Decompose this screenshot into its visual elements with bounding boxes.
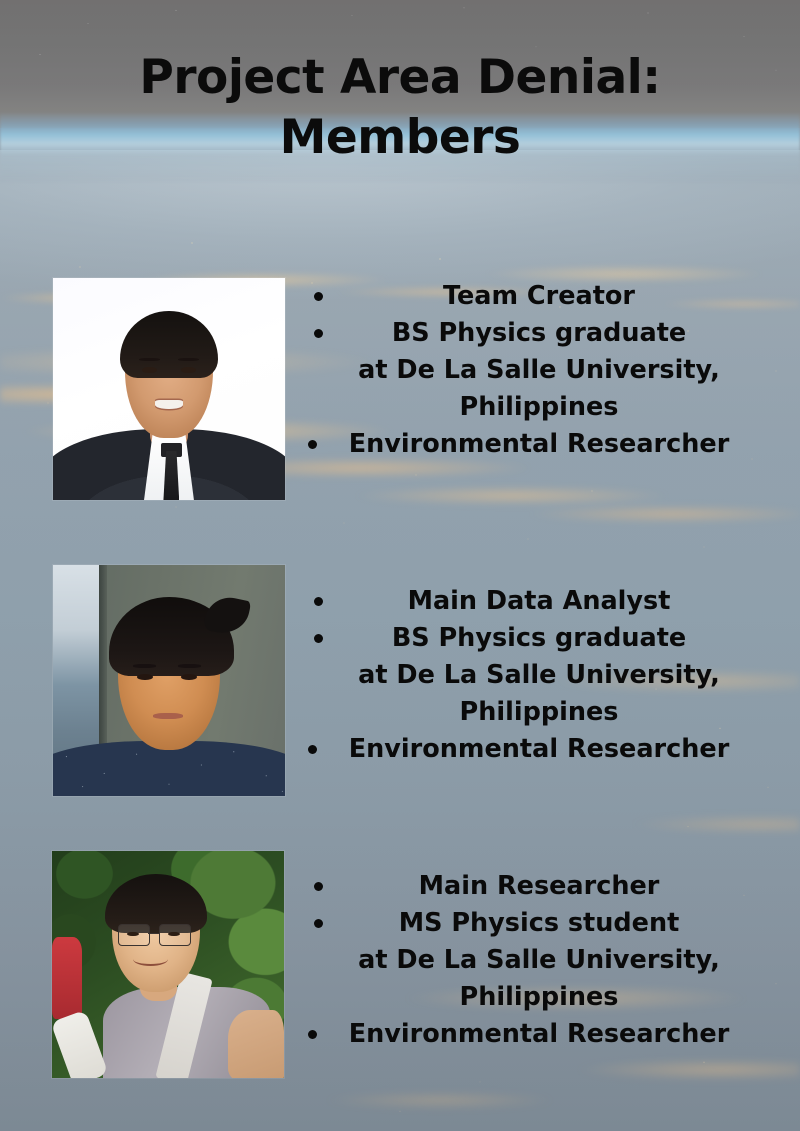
bio-line: Philippines xyxy=(300,979,778,1016)
member-photo-1 xyxy=(53,278,285,500)
bullet-icon xyxy=(314,919,323,928)
bullet-icon xyxy=(314,329,323,338)
bio-text: Environmental Researcher xyxy=(300,1016,778,1053)
bio-line: Environmental Researcher xyxy=(300,1016,778,1053)
bullet-icon xyxy=(308,1030,317,1039)
bio-line: Team Creator xyxy=(300,278,778,315)
title-line-2: Members xyxy=(0,108,800,168)
bio-line: Philippines xyxy=(300,694,778,731)
bio-line: Main Data Analyst xyxy=(300,583,778,620)
bio-text: Main Researcher xyxy=(300,868,778,905)
bio-line: Environmental Researcher xyxy=(300,731,778,768)
bio-line: at De La Salle University, xyxy=(300,352,778,389)
bio-text: MS Physics student xyxy=(300,905,778,942)
bio-text: Main Data Analyst xyxy=(300,583,778,620)
bullet-icon xyxy=(314,597,323,606)
bio-line: BS Physics graduate xyxy=(300,315,778,352)
member-bio-1: Team Creator BS Physics graduate at De L… xyxy=(300,278,778,463)
bullet-icon xyxy=(314,292,323,301)
bullet-icon xyxy=(308,745,317,754)
bio-text: Environmental Researcher xyxy=(300,426,778,463)
bio-text: Philippines xyxy=(300,694,778,731)
bio-line: Environmental Researcher xyxy=(300,426,778,463)
member-bio-3: Main Researcher MS Physics student at De… xyxy=(300,868,778,1053)
bio-text: BS Physics graduate xyxy=(300,315,778,352)
bio-line: Philippines xyxy=(300,389,778,426)
bio-text: Philippines xyxy=(300,979,778,1016)
member-photo-3 xyxy=(52,851,284,1078)
bullet-icon xyxy=(314,634,323,643)
bio-text: Environmental Researcher xyxy=(300,731,778,768)
bio-line: Main Researcher xyxy=(300,868,778,905)
bio-text: Team Creator xyxy=(300,278,778,315)
bio-text: BS Physics graduate xyxy=(300,620,778,657)
bullet-icon xyxy=(308,440,317,449)
bio-text: Philippines xyxy=(300,389,778,426)
bio-line: MS Physics student xyxy=(300,905,778,942)
bio-line: at De La Salle University, xyxy=(300,942,778,979)
bullet-icon xyxy=(314,882,323,891)
bio-line: at De La Salle University, xyxy=(300,657,778,694)
bio-text: at De La Salle University, xyxy=(300,657,778,694)
member-photo-2 xyxy=(53,565,285,796)
poster: Project Area Denial: Members Team Creato… xyxy=(0,0,800,1131)
bio-text: at De La Salle University, xyxy=(300,942,778,979)
member-bio-2: Main Data Analyst BS Physics graduate at… xyxy=(300,583,778,768)
bio-line: BS Physics graduate xyxy=(300,620,778,657)
bio-text: at De La Salle University, xyxy=(300,352,778,389)
page-title: Project Area Denial: Members xyxy=(0,48,800,168)
title-line-1: Project Area Denial: xyxy=(139,50,660,105)
